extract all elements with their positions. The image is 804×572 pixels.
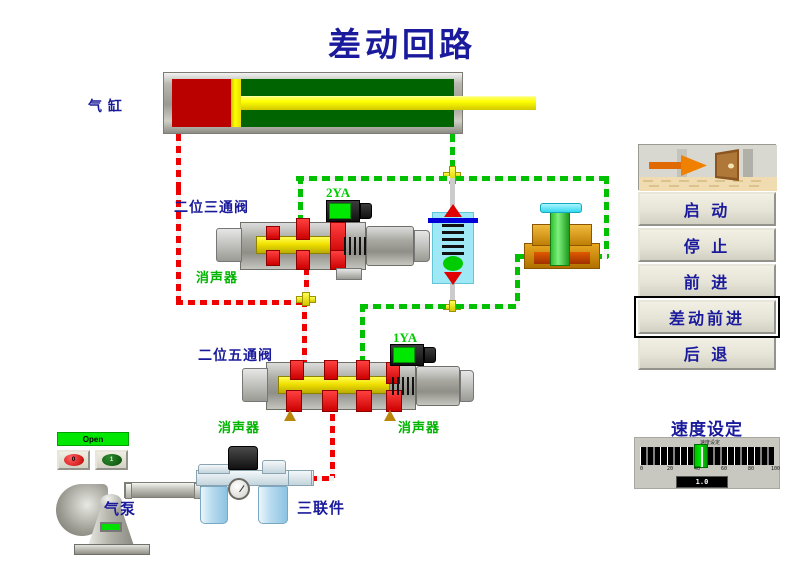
frl-lubricator-top	[262, 460, 286, 474]
frl-lubricator-bowl	[258, 486, 288, 524]
valve-5way-port-bottom-a	[286, 390, 302, 412]
muffler-label-top: 消声器	[196, 267, 238, 286]
stop-button[interactable]: 停 止	[638, 228, 776, 262]
cylinder-chamber-rod-side	[172, 79, 231, 127]
speed-tick-80: 80	[748, 466, 754, 472]
solenoid-2ya-plug	[360, 203, 372, 219]
start-button[interactable]: 启 动	[638, 192, 776, 226]
solenoid-1ya-plug	[424, 347, 436, 363]
speed-slider-thumb[interactable]	[694, 444, 708, 468]
pipe-cylinder-left-down-a	[176, 134, 181, 188]
valve-3way-port-bottom-b	[296, 250, 310, 270]
check-valve-seat-bar	[428, 218, 478, 223]
pump-off-button[interactable]: 0	[57, 450, 90, 470]
valve-3way-actuator	[366, 226, 414, 266]
pipe-supply-vertical	[330, 414, 335, 478]
solenoid-2ya-indicator	[329, 203, 351, 219]
solenoid-2ya-label: 2YA	[326, 185, 350, 201]
frl-filter-top	[198, 464, 230, 474]
throttle-valve-knob[interactable]	[540, 203, 582, 213]
muffler-top-fitting	[336, 268, 362, 280]
pipe-throttle-down	[515, 254, 520, 306]
pipe-to-5way-port-a	[302, 300, 307, 362]
cylinder-piston-rod	[241, 96, 536, 110]
forward-button[interactable]: 前 进	[638, 264, 776, 298]
speed-tick-40: 40	[694, 466, 700, 472]
muffler-right-cone	[384, 410, 396, 421]
speed-tick-0: 0	[640, 466, 643, 472]
reverse-button[interactable]: 后 退	[638, 336, 776, 370]
differential-forward-button[interactable]: 差动前进	[638, 300, 776, 334]
pipe-left-bottom-run	[176, 300, 306, 305]
cylinder-piston	[231, 79, 241, 127]
pipe-to-5way-port-b	[360, 304, 365, 362]
valve-3way-port-top-a	[266, 226, 280, 240]
throttle-valve-stem[interactable]	[550, 210, 570, 266]
pipe-top-green-right	[456, 176, 608, 181]
valve-3way-port-bottom-a	[266, 250, 280, 266]
valve-5way-port-top-a	[290, 360, 304, 380]
check-valve-ball	[443, 256, 463, 271]
valve-5way-port-bottom-c	[356, 390, 372, 412]
frl-pressure-gauge	[228, 478, 250, 500]
frl-outlet-port	[288, 470, 312, 486]
valve-5way-far-cap	[460, 370, 474, 402]
check-valve-spring	[442, 224, 464, 256]
pipe-to-3way-valve	[298, 176, 303, 224]
pump-outlet-pipe	[124, 482, 202, 498]
pump-on-button[interactable]: 1	[95, 450, 128, 470]
control-panel: 启 动 停 止 前 进 差动前进 后 退	[638, 144, 776, 370]
pump-status-indicator: Open	[57, 432, 129, 446]
speed-tick-100: 100	[771, 466, 780, 472]
page-title: 差动回路	[0, 18, 804, 66]
valve-3way-port-top-b	[296, 218, 310, 240]
valve-5way-label: 二位五通阀	[198, 345, 273, 365]
pump-running-indicator	[100, 522, 122, 532]
pump-pipe-ring-left	[125, 483, 132, 499]
check-valve-arrow-out	[444, 272, 462, 285]
speed-tick-20: 20	[667, 466, 673, 472]
muffler-label-left: 消声器	[218, 417, 260, 436]
pneumatic-circuit-diagram: 差动回路 气 缸 二位三通阀 消声器	[0, 0, 804, 572]
pump-off-lamp: 0	[64, 454, 84, 466]
muffler-label-right: 消声器	[398, 417, 440, 436]
pipe-right-down-to-throttle	[604, 176, 609, 258]
pipe-tee-bottom-v	[449, 300, 456, 312]
speed-tick-60: 60	[721, 466, 727, 472]
speed-tick-labels: 0 20 40 60 80 100	[638, 466, 778, 474]
valve-5way-end-cap	[242, 368, 268, 402]
cylinder-label: 气 缸	[88, 96, 123, 116]
valve-3way-far-cap	[414, 230, 430, 262]
pipe-bottom-green-right	[456, 304, 518, 309]
valve-3way-label: 二位三通阀	[174, 197, 249, 217]
valve-5way-port-top-c	[356, 360, 370, 380]
frl-filter-bowl	[200, 486, 228, 524]
pipe-top-green-left	[296, 176, 450, 181]
pump-label: 气泵	[104, 498, 136, 519]
valve-3way-end-cap	[216, 228, 242, 262]
exit-door-icon[interactable]	[638, 144, 776, 190]
valve-5way-port-top-b	[324, 360, 338, 380]
frl-regulator-knob[interactable]	[228, 446, 258, 470]
valve-5way-port-bottom-b	[322, 390, 338, 412]
check-valve-arrow-in	[444, 204, 462, 217]
pipe-tee-exhaust-v	[302, 292, 310, 306]
pump-on-lamp: 1	[102, 454, 122, 466]
valve-5way-actuator	[416, 366, 460, 406]
muffler-left-cone	[284, 410, 296, 421]
frl-label: 三联件	[297, 497, 345, 518]
speed-value-display: 1.0	[676, 476, 728, 488]
pipe-bottom-green-left	[360, 304, 446, 309]
valve-5way-spring	[392, 377, 418, 395]
solenoid-1ya-indicator	[393, 347, 415, 363]
pump-base	[74, 544, 150, 555]
